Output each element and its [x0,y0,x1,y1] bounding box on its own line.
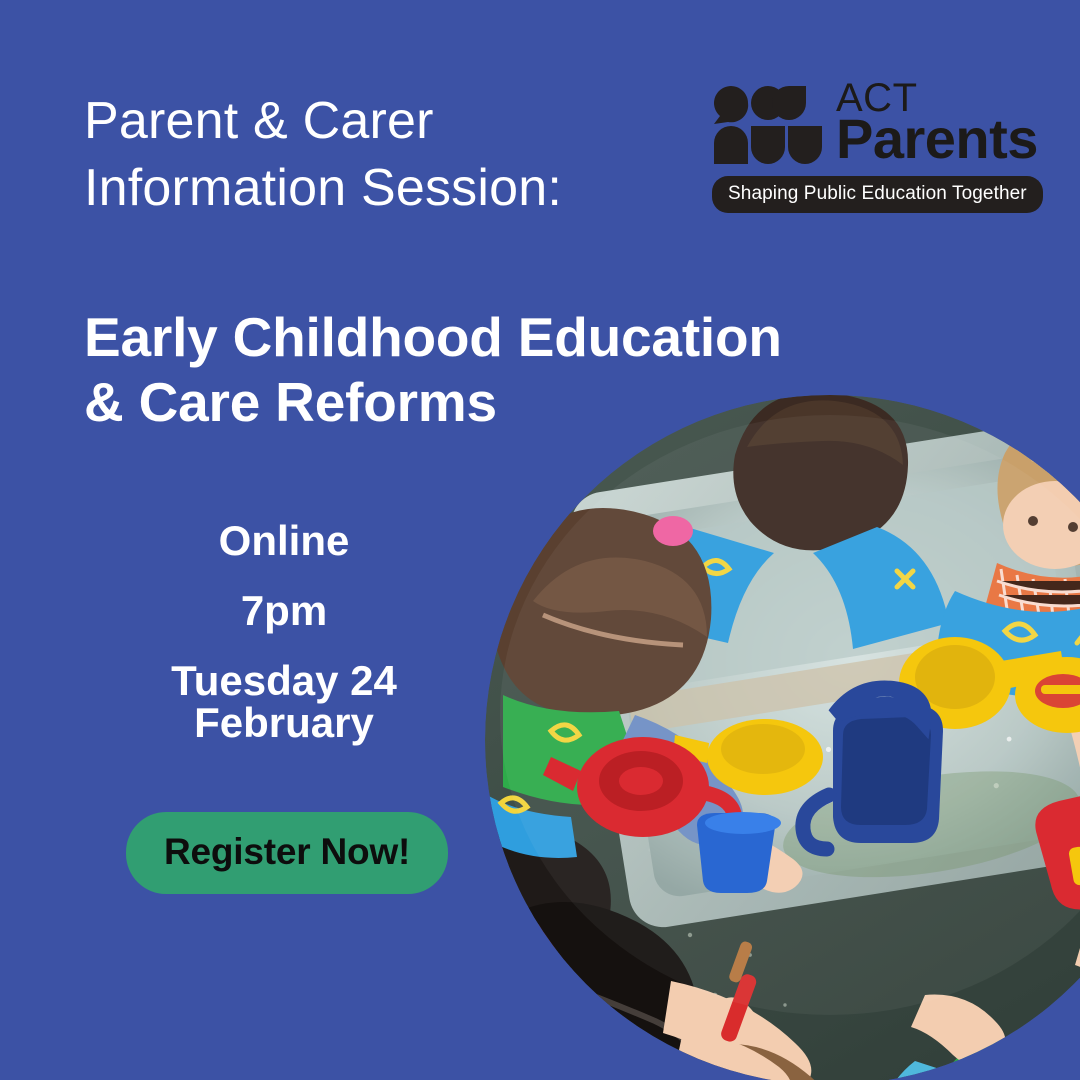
eyebrow-line-1: Parent & Carer [84,88,704,155]
headline-line-1: Early Childhood Education [84,305,784,370]
session-eyebrow-heading: Parent & Carer Information Session: [84,88,704,221]
register-now-button[interactable]: Register Now! [126,812,448,894]
logo-tagline-pill: Shaping Public Education Together [712,176,1043,213]
act-parents-logo[interactable]: ACT Parents Shaping Public Education Tog… [712,78,1022,213]
eyebrow-line-2: Information Session: [84,155,704,222]
headline-line-2: & Care Reforms [84,370,784,435]
event-details: Online 7pm Tuesday 24 February [84,520,484,744]
logo-parents-text: Parents [836,113,1038,165]
event-photo [485,395,1080,1080]
logo-wordmark: ACT Parents [836,78,1038,164]
event-date: Tuesday 24 February [84,660,484,744]
page-title: Early Childhood Education & Care Reforms [84,305,784,435]
logo-top-row: ACT Parents [712,78,1022,172]
promotional-poster: ACT Parents Shaping Public Education Tog… [0,0,1080,1080]
photo-illustration [485,395,1080,1080]
event-time: 7pm [84,590,484,632]
event-mode: Online [84,520,484,562]
act-parents-people-mark-icon [712,84,824,172]
